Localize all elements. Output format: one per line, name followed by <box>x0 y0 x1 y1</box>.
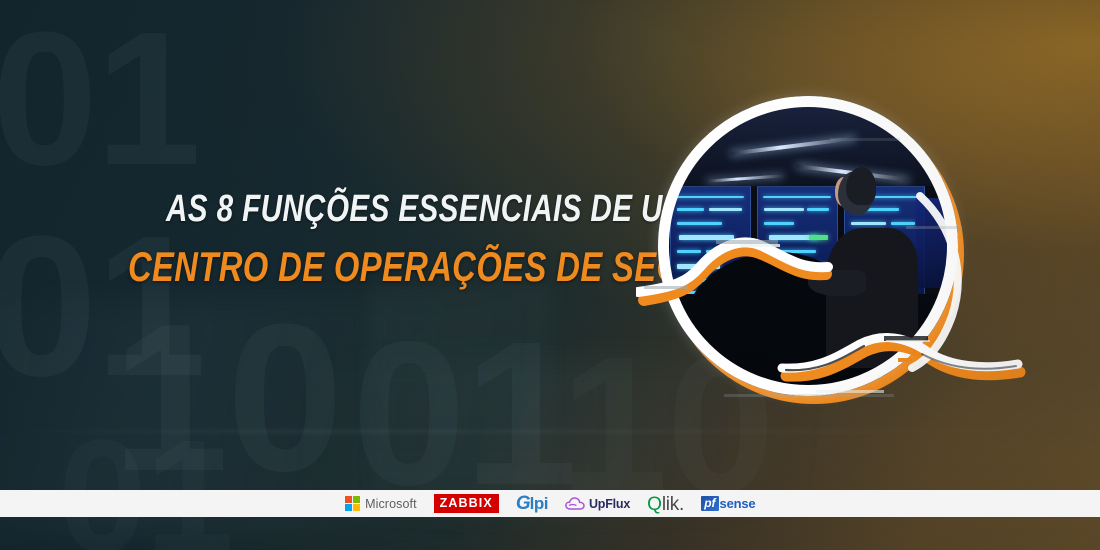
glpi-mark-icon: G <box>516 494 530 513</box>
logo-label: Microsoft <box>365 497 417 511</box>
headline-line-1: AS 8 FUNÇÕES ESSENCIAIS DE UM <box>166 188 542 231</box>
binary-digit: 01 <box>352 330 576 498</box>
logo-suffix: . <box>679 494 684 516</box>
logo-qlik[interactable]: Q lik . <box>647 494 684 514</box>
photo-medallion <box>636 78 1036 418</box>
binary-digit: 01 <box>0 22 199 178</box>
logo-pfsense[interactable]: pf sense <box>701 494 755 514</box>
logo-microsoft[interactable]: Microsoft <box>345 494 417 514</box>
headline-block: AS 8 FUNÇÕES ESSENCIAIS DE UM CENTRO DE … <box>128 188 648 291</box>
background-haze <box>0 430 1100 433</box>
logo-label: ZABBIX <box>434 494 499 514</box>
qlik-mark-icon: Q <box>647 495 662 514</box>
pfsense-mark-icon: pf <box>701 496 718 512</box>
binary-digit: 10 <box>112 312 342 484</box>
logo-label: sense <box>720 496 756 511</box>
marketing-banner: 01 01 10 01 10 01 AS 8 FUNÇÕES ESSENCIAI… <box>0 0 1100 550</box>
headline-line-2: CENTRO DE OPERAÇÕES DE SEGURANÇA <box>128 243 534 291</box>
background-haze <box>370 286 550 501</box>
logo-label: UpFlux <box>589 497 630 511</box>
medallion-white-ring <box>658 96 958 396</box>
logo-glpi[interactable]: G lpi <box>516 494 548 514</box>
microsoft-squares-icon <box>345 496 361 512</box>
logo-zabbix[interactable]: ZABBIX <box>434 494 499 514</box>
logo-label: lik <box>662 495 679 514</box>
logo-upflux[interactable]: UpFlux <box>565 494 630 514</box>
logo-label: lpi <box>530 495 548 512</box>
cloud-icon <box>565 497 585 510</box>
partner-logo-bar: Microsoft ZABBIX G lpi UpFlux Q lik . pf <box>0 490 1100 517</box>
